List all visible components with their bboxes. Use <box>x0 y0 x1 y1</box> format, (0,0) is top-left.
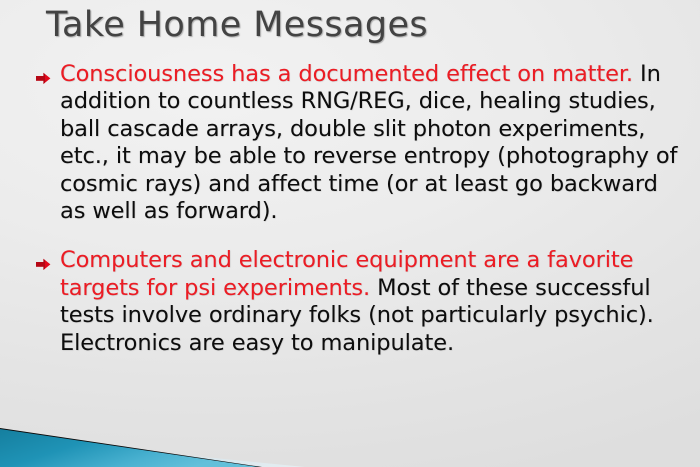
red-arrow-bullet-icon <box>36 256 51 269</box>
list-item: Consciousness has a documented effect on… <box>30 61 690 225</box>
list-item-text: Computers and electronic equipment are a… <box>60 247 654 355</box>
page-title: Take Home Messages <box>46 0 680 50</box>
pale-blue-band <box>0 437 305 467</box>
footer-decoration <box>0 407 700 467</box>
slide: Take Home Messages Consciousness has a d… <box>0 0 700 467</box>
black-stripe <box>0 428 262 467</box>
bullet-list: Consciousness has a documented effect on… <box>30 61 690 379</box>
teal-wedge <box>0 429 258 467</box>
list-item-highlight: Consciousness has a documented effect on… <box>60 61 633 87</box>
title-area: Take Home Messages <box>46 0 680 52</box>
list-item-text: Consciousness has a documented effect on… <box>60 61 677 224</box>
list-item: Computers and electronic equipment are a… <box>30 247 690 357</box>
red-arrow-bullet-icon <box>36 70 51 83</box>
